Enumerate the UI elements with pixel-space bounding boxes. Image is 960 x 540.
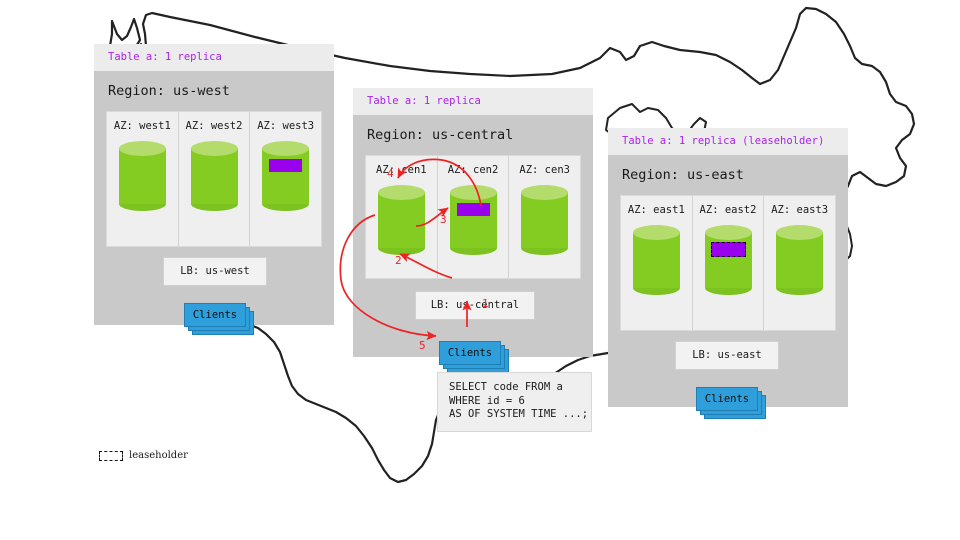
- az-label-east2: AZ: east2: [700, 204, 757, 216]
- az-label-east1: AZ: east1: [628, 204, 685, 216]
- cylinder-body: [191, 148, 238, 204]
- card-title-us-central: Table a: 1 replica: [367, 95, 579, 107]
- flow-step-number-5: 5: [419, 339, 426, 352]
- az-cell-cen1[interactable]: AZ: cen1: [366, 156, 438, 278]
- replica-west3[interactable]: [269, 159, 302, 172]
- cylinder-body: [705, 232, 752, 288]
- az-label-west2: AZ: west2: [186, 120, 243, 132]
- replica-cen2[interactable]: [457, 203, 490, 216]
- flow-step-number-1: 1: [482, 297, 489, 310]
- diagram-canvas: Table a: 1 replica Region: us-west AZ: w…: [0, 0, 960, 540]
- card-body-us-east: Region: us-east AZ: east1 AZ: east2: [608, 155, 848, 407]
- cylinder-east1[interactable]: [633, 225, 680, 295]
- region-label-us-west: Region: us-west: [108, 83, 322, 99]
- cylinder-body: [262, 148, 309, 204]
- cylinder-top: [191, 141, 238, 156]
- region-label-us-east: Region: us-east: [622, 167, 836, 183]
- lb-box-us-central[interactable]: LB: us-central: [415, 291, 535, 320]
- cylinder-body: [119, 148, 166, 204]
- az-cell-east3[interactable]: AZ: east3: [764, 196, 835, 330]
- legend-leaseholder: leaseholder: [99, 450, 188, 461]
- region-card-us-east: Table a: 1 replica (leaseholder) Region:…: [608, 128, 848, 407]
- cylinder-top: [633, 225, 680, 240]
- clients-label-us-central[interactable]: Clients: [439, 341, 501, 365]
- card-title-us-east: Table a: 1 replica (leaseholder): [622, 135, 834, 147]
- lb-box-us-east[interactable]: LB: us-east: [675, 341, 779, 370]
- replica-east2-leaseholder[interactable]: [711, 242, 746, 257]
- az-label-west1: AZ: west1: [114, 120, 171, 132]
- az-cell-west1[interactable]: AZ: west1: [107, 112, 179, 246]
- cylinder-west2[interactable]: [191, 141, 238, 211]
- cylinder-top: [119, 141, 166, 156]
- cylinder-body: [521, 192, 568, 248]
- az-row-us-west: AZ: west1 AZ: west2 AZ: [106, 111, 322, 247]
- clients-us-west[interactable]: Clients: [184, 303, 246, 327]
- region-label-us-central: Region: us-central: [367, 127, 581, 143]
- region-card-us-central: Table a: 1 replica Region: us-central AZ…: [353, 88, 593, 357]
- legend-label: leaseholder: [129, 450, 188, 461]
- az-label-cen2: AZ: cen2: [448, 164, 499, 176]
- cylinder-cen2[interactable]: [450, 185, 497, 255]
- region-card-us-west: Table a: 1 replica Region: us-west AZ: w…: [94, 44, 334, 325]
- card-title-us-west: Table a: 1 replica: [108, 51, 320, 63]
- card-titlebar-us-east: Table a: 1 replica (leaseholder): [608, 128, 848, 155]
- cylinder-top: [776, 225, 823, 240]
- cylinder-top: [378, 185, 425, 200]
- clients-us-central[interactable]: Clients: [439, 341, 501, 365]
- cylinder-west1[interactable]: [119, 141, 166, 211]
- cylinder-cen1[interactable]: [378, 185, 425, 255]
- az-cell-east2[interactable]: AZ: east2: [693, 196, 765, 330]
- az-label-west3: AZ: west3: [257, 120, 314, 132]
- flow-step-number-3: 3: [440, 213, 447, 226]
- cylinder-top: [450, 185, 497, 200]
- cylinder-body: [378, 192, 425, 248]
- cylinder-west3[interactable]: [262, 141, 309, 211]
- cylinder-east2[interactable]: [705, 225, 752, 295]
- az-cell-cen2[interactable]: AZ: cen2: [438, 156, 510, 278]
- az-cell-east1[interactable]: AZ: east1: [621, 196, 693, 330]
- az-cell-west3[interactable]: AZ: west3: [250, 112, 321, 246]
- cylinder-body: [633, 232, 680, 288]
- az-label-east3: AZ: east3: [771, 204, 828, 216]
- cylinder-cen3[interactable]: [521, 185, 568, 255]
- cylinder-east3[interactable]: [776, 225, 823, 295]
- az-cell-cen3[interactable]: AZ: cen3: [509, 156, 580, 278]
- flow-step-number-2: 2: [395, 254, 402, 267]
- clients-us-east[interactable]: Clients: [696, 387, 758, 411]
- sql-line-3: AS OF SYSTEM TIME ...;: [449, 408, 580, 422]
- sql-line-2: WHERE id = 6: [449, 395, 580, 409]
- az-label-cen1: AZ: cen1: [376, 164, 427, 176]
- card-body-us-west: Region: us-west AZ: west1 AZ: west2: [94, 71, 334, 325]
- cylinder-body: [450, 192, 497, 248]
- card-body-us-central: Region: us-central AZ: cen1 AZ: cen2: [353, 115, 593, 357]
- lb-box-us-west[interactable]: LB: us-west: [163, 257, 267, 286]
- cylinder-body: [776, 232, 823, 288]
- clients-label-us-west[interactable]: Clients: [184, 303, 246, 327]
- card-titlebar-us-west: Table a: 1 replica: [94, 44, 334, 71]
- flow-step-number-4: 4: [387, 167, 394, 180]
- cylinder-top: [262, 141, 309, 156]
- clients-label-us-east[interactable]: Clients: [696, 387, 758, 411]
- az-cell-west2[interactable]: AZ: west2: [179, 112, 251, 246]
- sql-line-1: SELECT code FROM a: [449, 381, 580, 395]
- cylinder-top: [705, 225, 752, 240]
- az-label-cen3: AZ: cen3: [519, 164, 570, 176]
- cylinder-top: [521, 185, 568, 200]
- leaseholder-dashed-swatch-icon: [99, 451, 123, 461]
- card-titlebar-us-central: Table a: 1 replica: [353, 88, 593, 115]
- sql-query-box: SELECT code FROM a WHERE id = 6 AS OF SY…: [437, 372, 592, 432]
- az-row-us-east: AZ: east1 AZ: east2: [620, 195, 836, 331]
